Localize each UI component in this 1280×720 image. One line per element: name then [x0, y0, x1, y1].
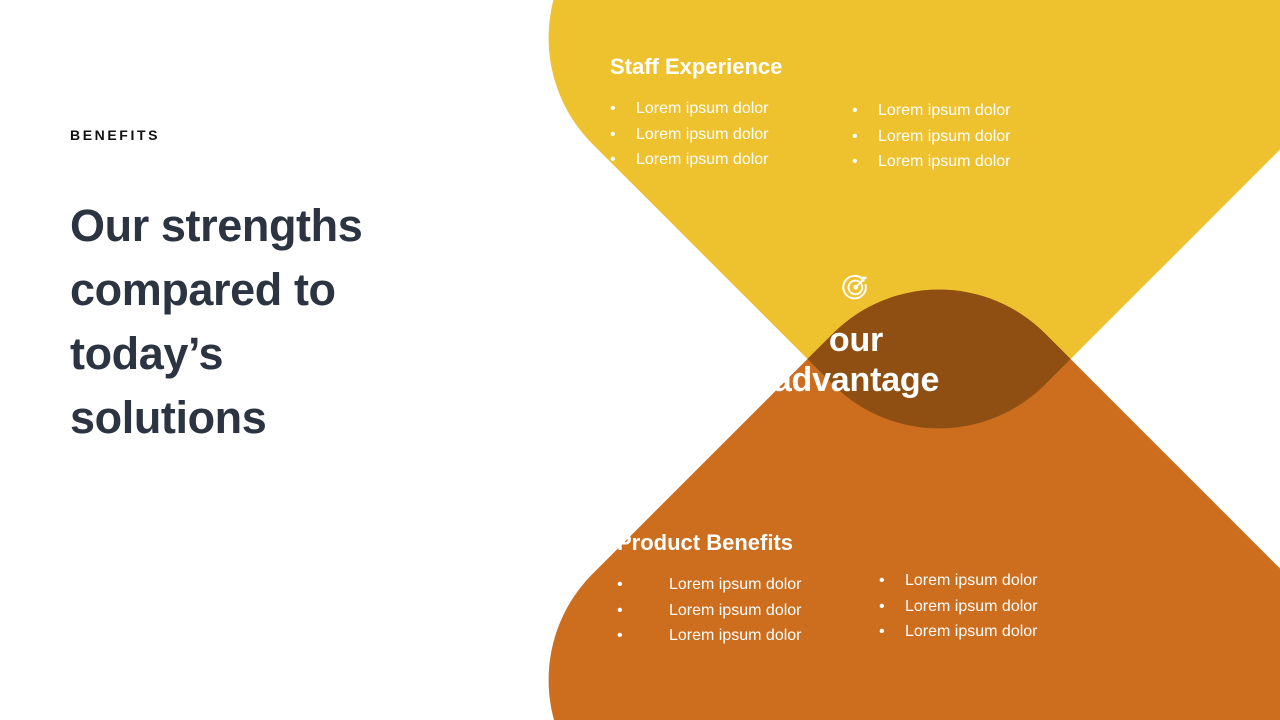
- list-item: Lorem ipsum dolor: [879, 619, 1119, 645]
- list-item: Lorem ipsum dolor: [879, 568, 1119, 594]
- panel-staff-experience: Staff Experience Lorem ipsum dolor Lorem…: [610, 54, 1170, 175]
- panel-product-benefits: Product Benefits Lorem ipsum dolor Lorem…: [617, 530, 1177, 649]
- list-item: Lorem ipsum dolor: [610, 122, 852, 148]
- list-item: Lorem ipsum dolor: [617, 598, 879, 624]
- center-line-1: our: [829, 321, 883, 359]
- list-item: Lorem ipsum dolor: [617, 623, 879, 649]
- staff-bullets-right: Lorem ipsum dolor Lorem ipsum dolor Lore…: [852, 98, 1092, 175]
- center-advantage-badge: our advantage: [706, 272, 1006, 400]
- product-bullets-right: Lorem ipsum dolor Lorem ipsum dolor Lore…: [879, 568, 1119, 649]
- center-line-2: advantage: [773, 361, 939, 399]
- product-bullets-left: Lorem ipsum dolor Lorem ipsum dolor Lore…: [617, 572, 879, 649]
- list-item: Lorem ipsum dolor: [852, 149, 1092, 175]
- product-bullet-columns: Lorem ipsum dolor Lorem ipsum dolor Lore…: [617, 572, 1177, 649]
- center-advantage-text: our advantage: [706, 320, 1006, 400]
- list-item: Lorem ipsum dolor: [610, 147, 852, 173]
- list-item: Lorem ipsum dolor: [852, 124, 1092, 150]
- slide-canvas: BENEFITS Our strengths compared to today…: [0, 0, 1280, 720]
- staff-bullets-left: Lorem ipsum dolor Lorem ipsum dolor Lore…: [610, 96, 852, 175]
- list-item: Lorem ipsum dolor: [610, 96, 852, 122]
- page-title: Our strengths compared to today’s soluti…: [70, 194, 430, 450]
- staff-bullet-columns: Lorem ipsum dolor Lorem ipsum dolor Lore…: [610, 96, 1170, 175]
- target-arrow-icon: [841, 272, 871, 302]
- list-item: Lorem ipsum dolor: [879, 594, 1119, 620]
- list-item: Lorem ipsum dolor: [852, 98, 1092, 124]
- list-item: Lorem ipsum dolor: [617, 572, 879, 598]
- panel-title-product-benefits: Product Benefits: [617, 530, 1177, 556]
- panel-title-staff-experience: Staff Experience: [610, 54, 1170, 80]
- eyebrow-label: BENEFITS: [70, 128, 430, 142]
- left-text-block: BENEFITS Our strengths compared to today…: [70, 128, 430, 450]
